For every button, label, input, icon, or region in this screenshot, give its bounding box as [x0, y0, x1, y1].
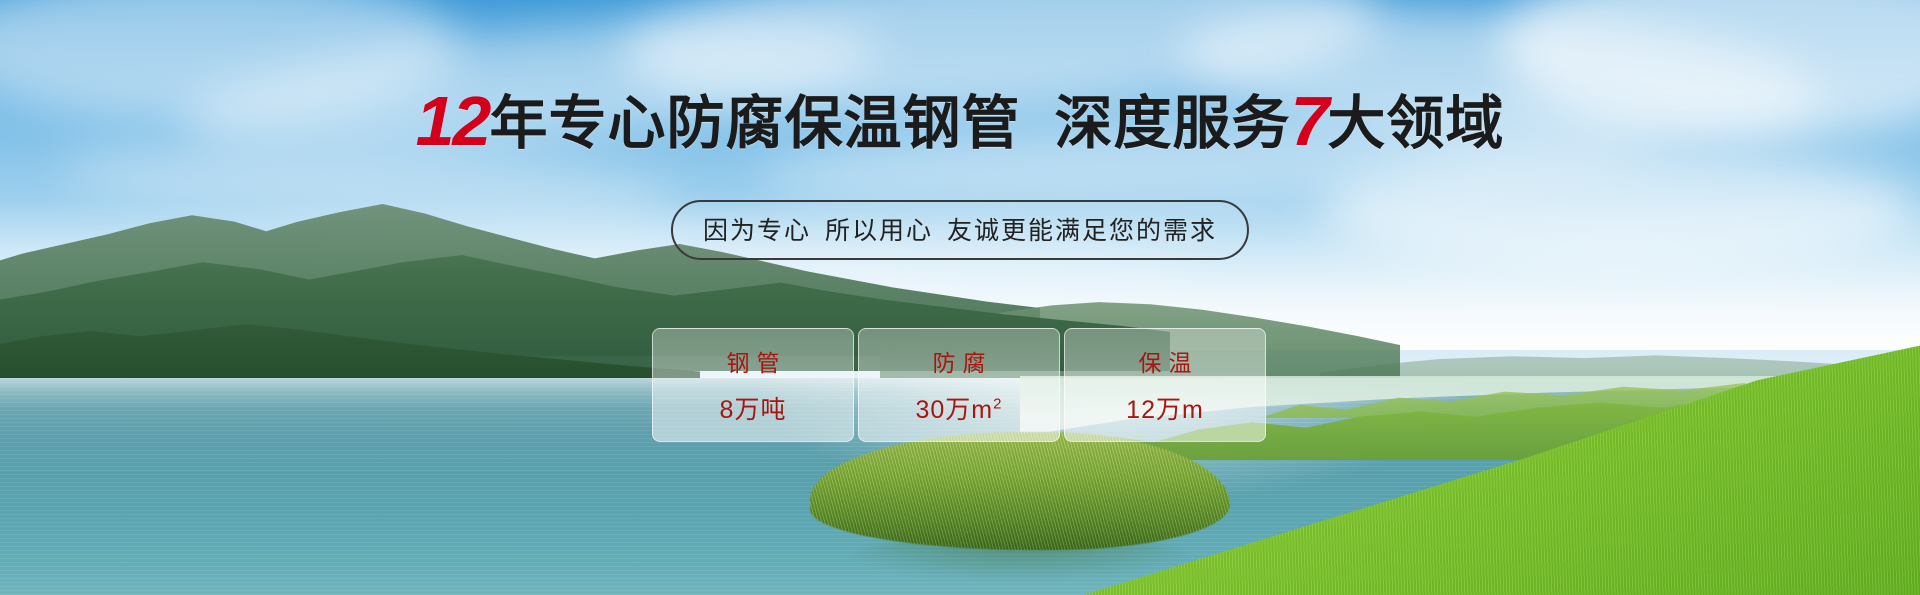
grass-island: [810, 432, 1230, 572]
subtitle-segment-1: 因为专心: [703, 217, 811, 245]
headline-number-years: 12: [416, 82, 490, 160]
stat-card-value: 12万m: [1126, 390, 1204, 426]
stat-card-value-text: 12万m: [1126, 396, 1204, 424]
headline-number-fields: 7: [1290, 82, 1327, 160]
island-texture: [810, 432, 1230, 550]
headline-text-secondary: 深度服务: [1054, 91, 1290, 156]
subtitle-pill: 因为专心所以用心友诚更能满足您的需求: [671, 200, 1249, 260]
stat-card-value-text: 8万吨: [720, 396, 787, 424]
stat-card-group: 钢管 8万吨 防腐 30万m2 保温 12万m: [652, 328, 1266, 442]
stat-card-value: 8万吨: [720, 390, 787, 426]
stat-card-steel-pipe: 钢管 8万吨: [652, 328, 854, 442]
subtitle-segment-3: 友诚更能满足您的需求: [947, 217, 1217, 245]
stat-card-value: 30万m2: [916, 390, 1003, 426]
stat-card-value-superscript: 2: [993, 396, 1002, 413]
stat-card-anticorrosion: 防腐 30万m2: [858, 328, 1060, 442]
subtitle-segment-2: 所以用心: [825, 217, 933, 245]
headline-text-primary: 年专心防腐保温钢管: [489, 91, 1020, 156]
headline-text-tertiary: 大领域: [1327, 91, 1504, 156]
stat-card-title: 钢管: [720, 344, 787, 378]
stat-card-insulation: 保温 12万m: [1064, 328, 1266, 442]
banner-headline: 12年专心防腐保温钢管深度服务7大领域: [0, 86, 1920, 156]
stat-card-title: 保温: [1132, 344, 1199, 378]
stat-card-title: 防腐: [926, 344, 993, 378]
hero-banner: 12年专心防腐保温钢管深度服务7大领域 因为专心所以用心友诚更能满足您的需求 钢…: [0, 0, 1920, 595]
stat-card-value-text: 30万m: [916, 396, 994, 424]
